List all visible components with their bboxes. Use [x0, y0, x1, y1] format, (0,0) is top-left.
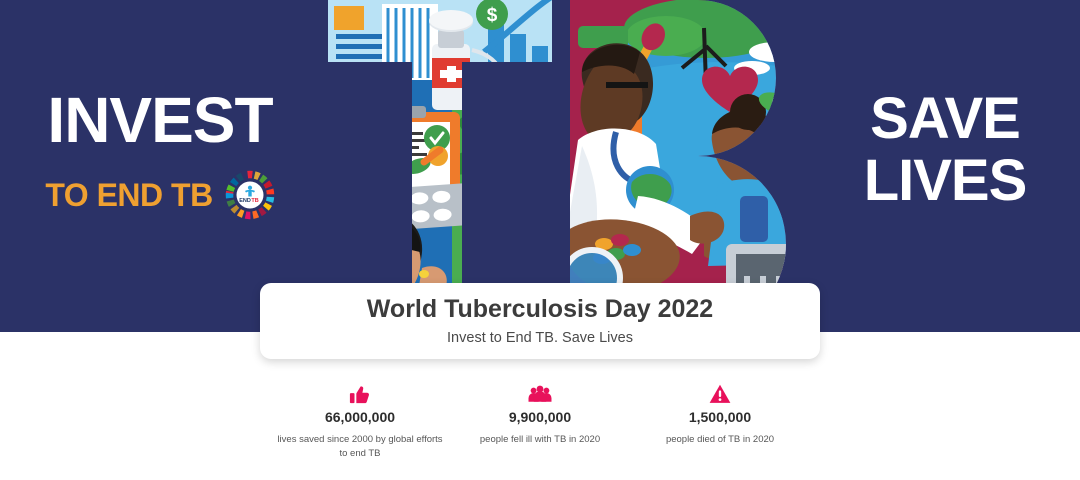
- people-group-icon: [454, 383, 626, 405]
- end-tb-sdg-wheel-logo: END TB: [225, 170, 275, 220]
- title-card: World Tuberculosis Day 2022 Invest to En…: [260, 283, 820, 359]
- stat-label: lives saved since 2000 by global efforts…: [274, 433, 446, 461]
- stat-value: 66,000,000: [274, 409, 446, 426]
- warning-triangle-icon: [634, 383, 806, 405]
- logo-text-end: END: [239, 198, 251, 204]
- stat-item: 66,000,000 lives saved since 2000 by glo…: [270, 383, 450, 460]
- stat-value: 1,500,000: [634, 409, 806, 426]
- stat-item: 1,500,000 people died of TB in 2020: [630, 383, 810, 447]
- page-subtitle: Invest to End TB. Save Lives: [447, 330, 633, 347]
- headline-lives: LIVES: [810, 150, 1080, 212]
- statistics-row: 66,000,000 lives saved since 2000 by glo…: [0, 383, 1080, 480]
- headline-left-block: INVEST TO END TB: [0, 88, 320, 220]
- stat-item: 9,900,000 people fell ill with TB in 202…: [450, 383, 630, 447]
- svg-text:$: $: [487, 5, 498, 26]
- headline-to-end-tb: TO END TB: [45, 179, 212, 211]
- stat-label: people died of TB in 2020: [634, 433, 806, 447]
- page-title: World Tuberculosis Day 2022: [367, 295, 713, 324]
- thumbs-up-icon: [274, 383, 446, 405]
- stat-value: 9,900,000: [454, 409, 626, 426]
- headline-invest: INVEST: [0, 88, 320, 152]
- logo-text-tb: TB: [251, 198, 258, 204]
- world-tb-day-banner-page: $: [0, 0, 1080, 480]
- stat-label: people fell ill with TB in 2020: [454, 433, 626, 447]
- headline-right-block: SAVE LIVES: [810, 88, 1080, 212]
- headline-sub-row: TO END TB: [0, 170, 320, 220]
- headline-save: SAVE: [810, 88, 1080, 150]
